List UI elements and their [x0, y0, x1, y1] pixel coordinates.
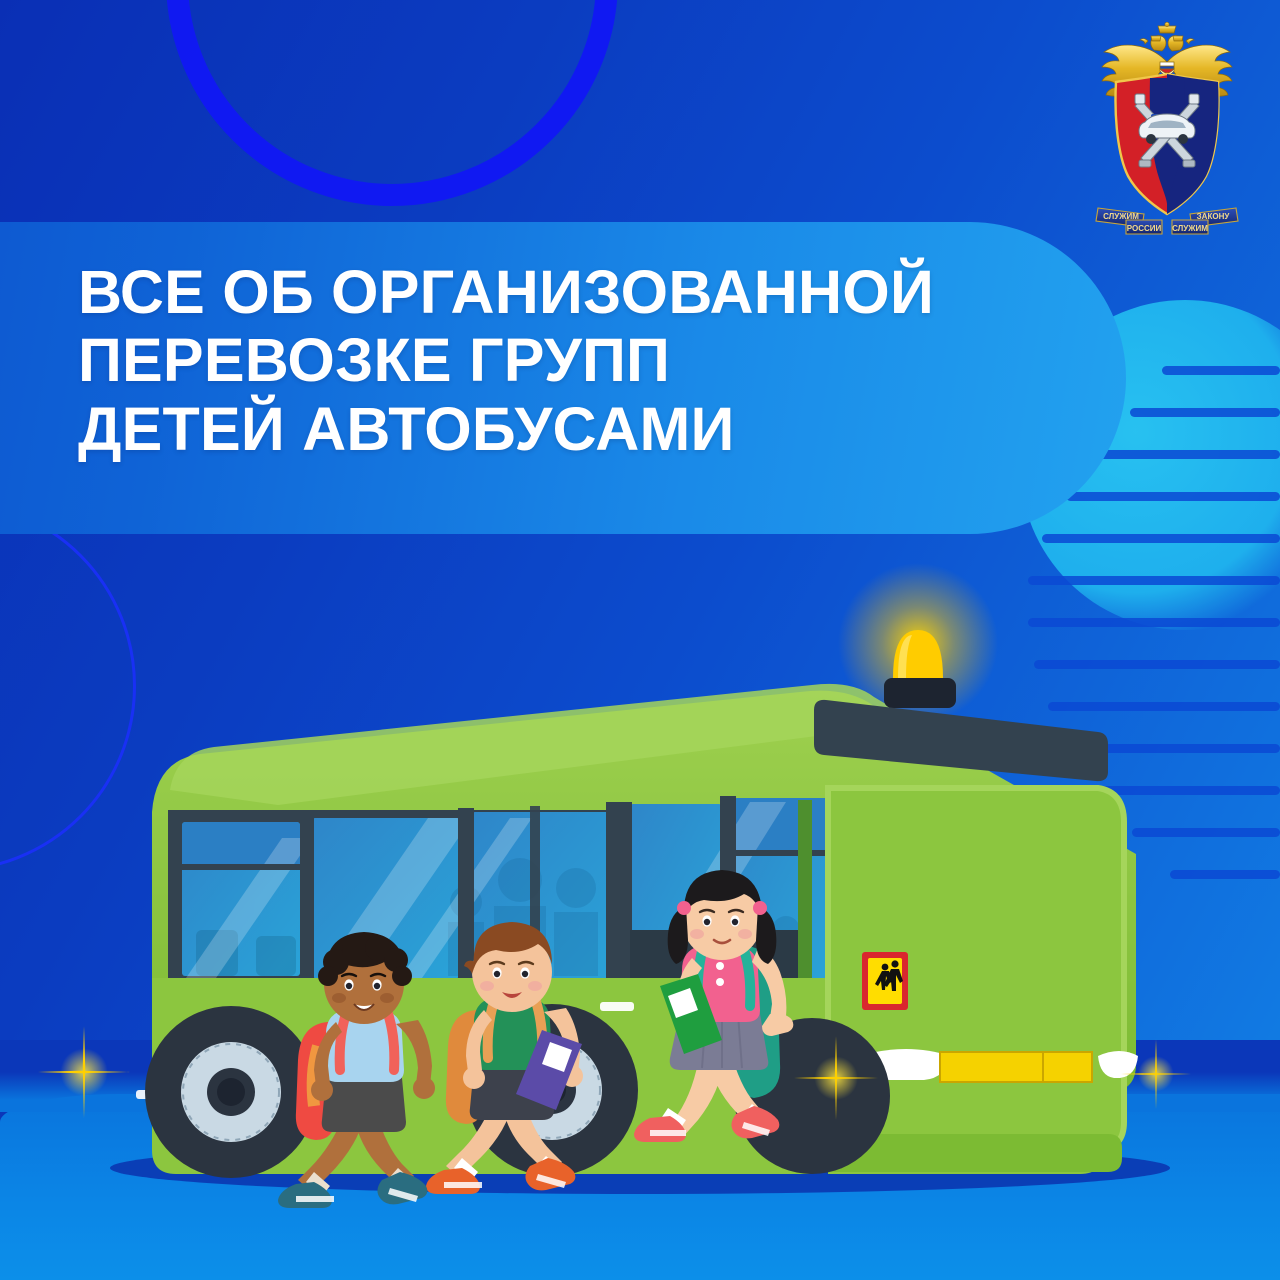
- bus-side-marker: [600, 1002, 634, 1011]
- sparkle-icon: [794, 1036, 878, 1120]
- license-plate: [940, 1052, 1092, 1082]
- children-warning-sign: [862, 952, 908, 1010]
- bus-wheel-rear: [145, 1006, 317, 1178]
- sparkle-icon: [1121, 1039, 1191, 1109]
- school-bus: [136, 630, 1138, 1178]
- poster-canvas: ВСЕ ОБ ОРГАНИЗОВАННОЙ ПЕРЕВОЗКЕ ГРУПП ДЕ…: [0, 0, 1280, 1280]
- sparkle-icon: [38, 1026, 130, 1118]
- illustration-scene: [0, 0, 1280, 1280]
